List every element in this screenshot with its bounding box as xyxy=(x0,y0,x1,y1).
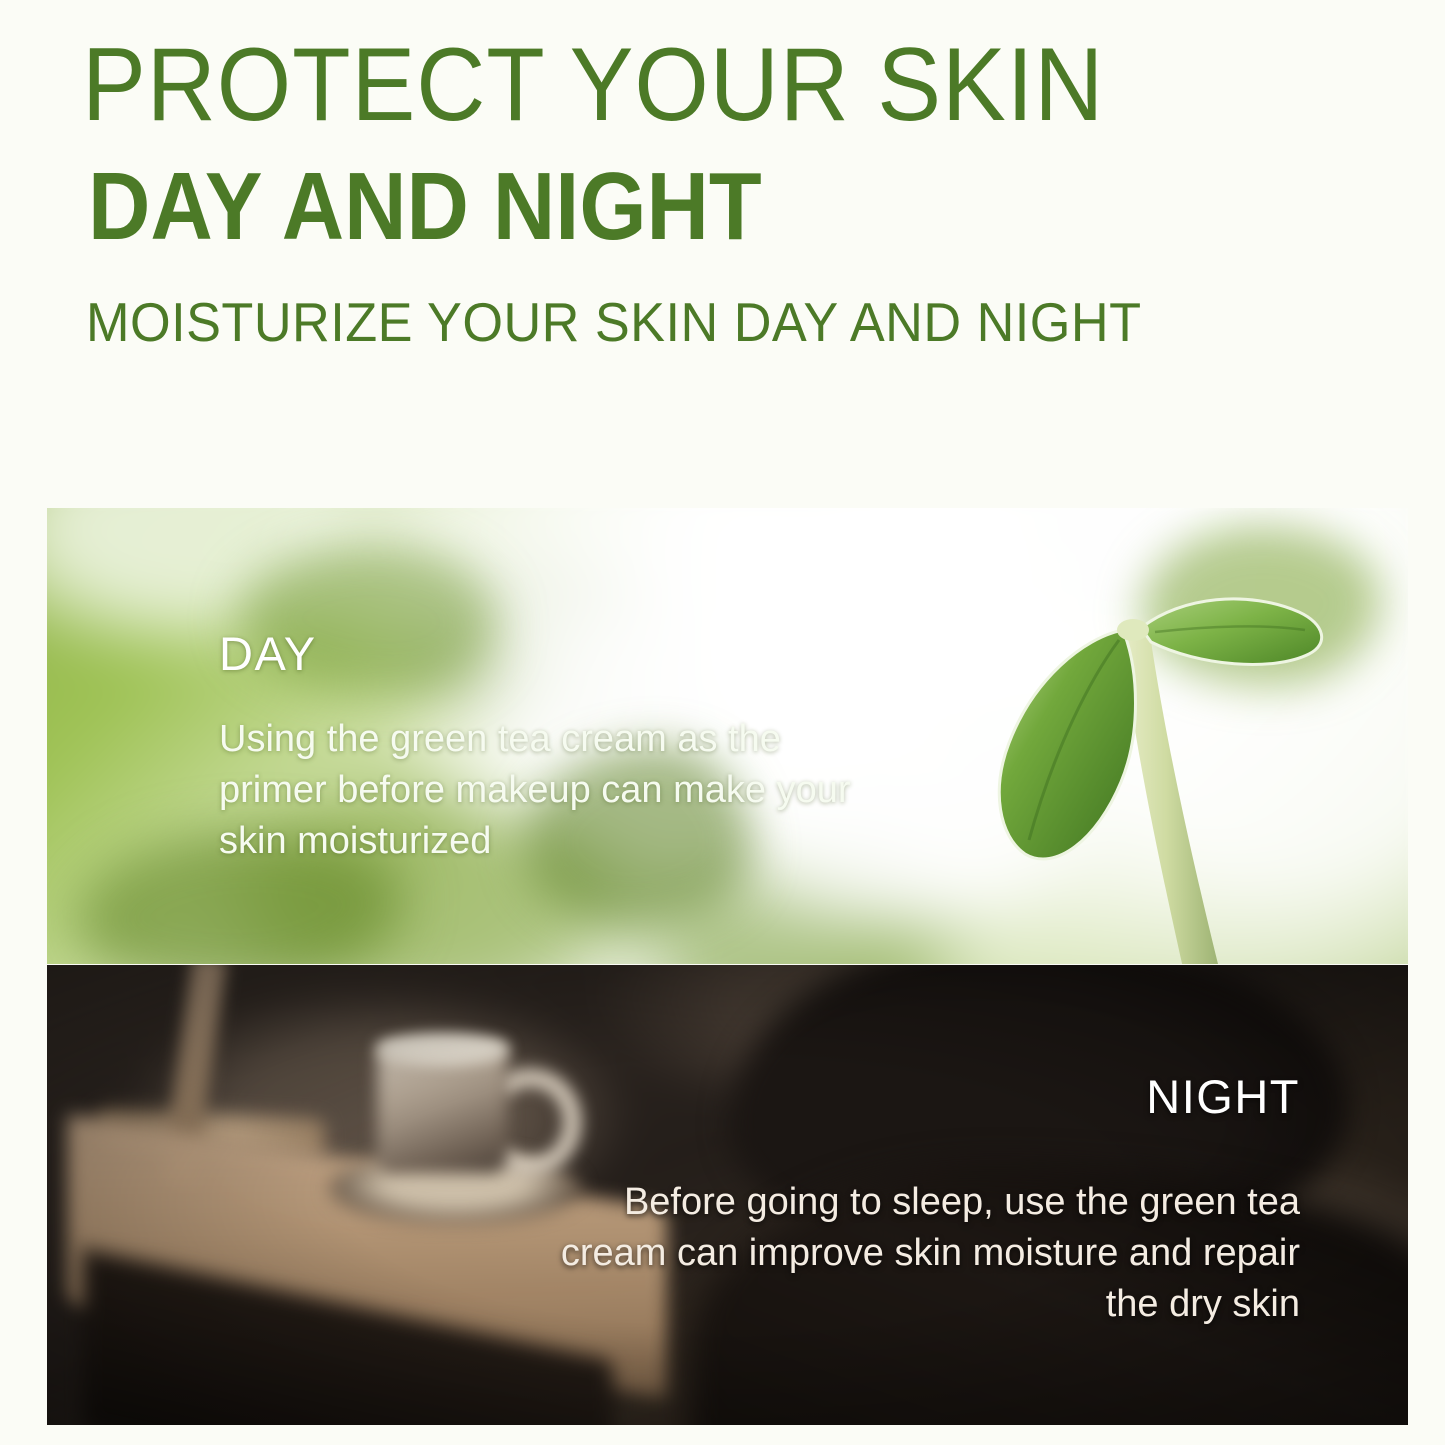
day-panel: DAY Using the green tea cream as the pri… xyxy=(47,508,1408,964)
day-text-block: DAY Using the green tea cream as the pri… xyxy=(219,628,879,867)
night-description: Before going to sleep, use the green tea… xyxy=(510,1177,1300,1330)
page-title-line1: PROTECT YOUR SKIN xyxy=(82,26,1104,144)
page-title-line2: DAY AND NIGHT xyxy=(88,152,762,262)
seedling-sprout-icon xyxy=(973,568,1333,964)
night-panel: NIGHT Before going to sleep, use the gre… xyxy=(47,965,1408,1425)
night-text-block: NIGHT Before going to sleep, use the gre… xyxy=(510,1071,1300,1330)
product-feature-poster: PROTECT YOUR SKIN DAY AND NIGHT MOISTURI… xyxy=(0,0,1445,1445)
night-label: NIGHT xyxy=(510,1071,1300,1123)
day-description: Using the green tea cream as the primer … xyxy=(219,714,879,867)
poster-header: PROTECT YOUR SKIN DAY AND NIGHT MOISTURI… xyxy=(0,0,1445,480)
day-label: DAY xyxy=(219,628,879,680)
page-tagline: MOISTURIZE YOUR SKIN DAY AND NIGHT xyxy=(86,290,1141,354)
